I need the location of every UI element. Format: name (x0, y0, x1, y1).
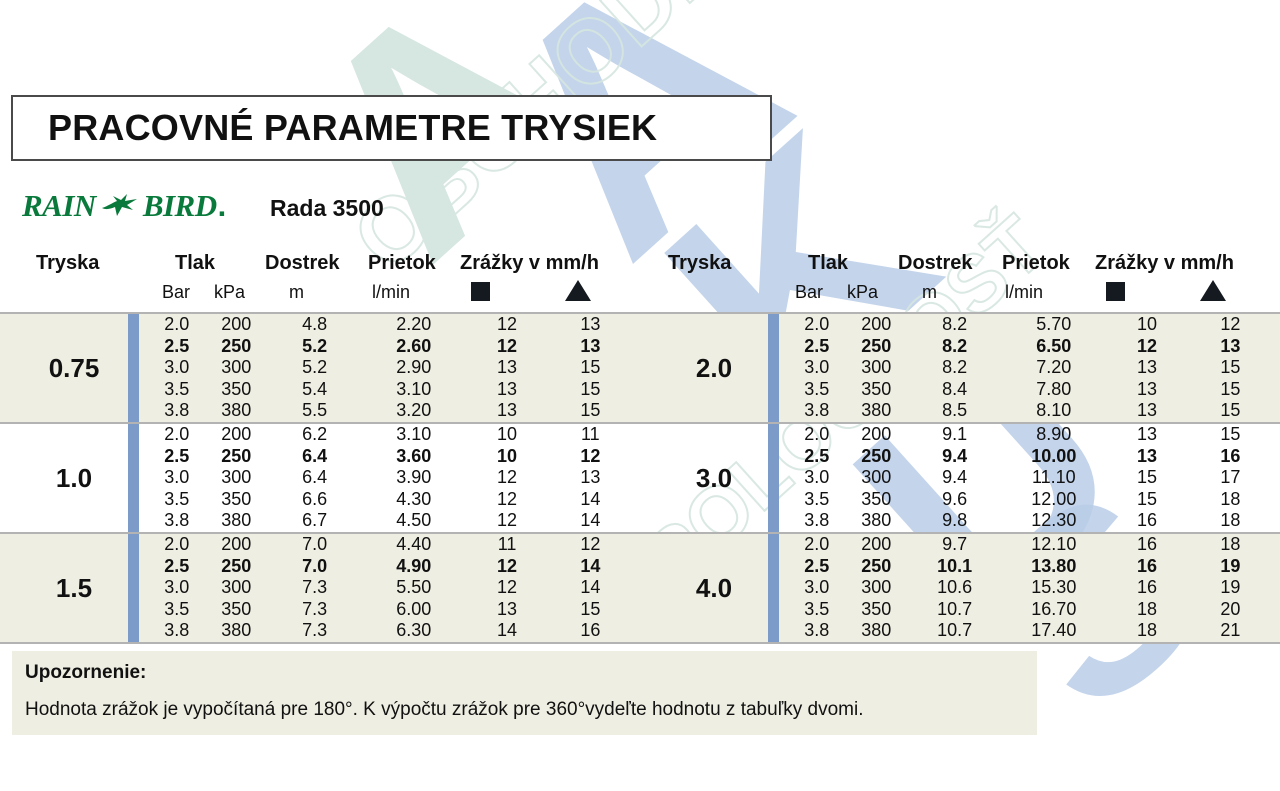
table-row: 2.52506.43.601012 (148, 446, 632, 468)
square-icon (1106, 282, 1125, 301)
nozzle-block: 3.02.02009.18.9013152.52509.410.0013163.… (640, 422, 1280, 532)
cell-flow: 7.20 (1002, 357, 1105, 379)
table-row: 3.030010.615.301619 (788, 577, 1272, 599)
cell-precip-square: 13 (465, 379, 548, 401)
cell-precip-square: 15 (1105, 489, 1188, 511)
cell-flow: 8.10 (1002, 400, 1105, 422)
cell-kpa: 350 (206, 599, 267, 621)
square-icon (471, 282, 490, 301)
cell-bar: 3.0 (788, 357, 846, 379)
cell-bar: 3.5 (148, 599, 206, 621)
page-title: PRACOVNÉ PARAMETRE TRYSIEK (13, 107, 657, 149)
cell-kpa: 300 (846, 467, 907, 489)
cell-bar: 2.5 (788, 446, 846, 468)
rain-bird-logo: RAIN BIRD . (22, 188, 226, 224)
table-row: 3.535010.716.701820 (788, 599, 1272, 621)
cell-radius: 5.5 (267, 400, 362, 422)
cell-flow: 16.70 (1002, 599, 1105, 621)
cell-kpa: 200 (846, 534, 907, 556)
unit-kpa: kPa (847, 282, 878, 303)
table-row: 3.53509.612.001518 (788, 489, 1272, 511)
cell-precip-triangle: 14 (549, 489, 632, 511)
cell-bar: 3.0 (148, 467, 206, 489)
footer-text: Hodnota zrážok je vypočítaná pre 180°. K… (25, 699, 863, 721)
nozzle-rows: 2.02006.23.1010112.52506.43.6010123.0300… (148, 424, 632, 532)
unit-m: m (289, 282, 304, 303)
cell-kpa: 350 (846, 489, 907, 511)
cell-bar: 3.8 (788, 400, 846, 422)
nozzle-size-label: 0.75 (0, 314, 148, 422)
unit-bar: Bar (162, 282, 190, 303)
cell-kpa: 200 (846, 424, 907, 446)
cell-kpa: 200 (206, 534, 267, 556)
cell-precip-triangle: 15 (549, 379, 632, 401)
cell-precip-triangle: 19 (1189, 577, 1272, 599)
cell-flow: 4.40 (362, 534, 465, 556)
cell-flow: 8.90 (1002, 424, 1105, 446)
cell-radius: 9.4 (907, 467, 1002, 489)
cell-radius: 8.2 (907, 357, 1002, 379)
cell-radius: 6.6 (267, 489, 362, 511)
cell-radius: 5.4 (267, 379, 362, 401)
table-row: 3.83805.53.201315 (148, 400, 632, 422)
cell-kpa: 200 (206, 424, 267, 446)
nozzle-block: 4.02.02009.712.1016182.525010.113.801619… (640, 532, 1280, 644)
cell-bar: 3.5 (148, 489, 206, 511)
cell-flow: 11.10 (1002, 467, 1105, 489)
cell-kpa: 250 (206, 446, 267, 468)
table-left: Tryska Tlak Dostrek Prietok Zrážky v mm/… (0, 246, 640, 644)
cell-kpa: 380 (846, 620, 907, 642)
cell-precip-square: 12 (465, 336, 548, 358)
cell-bar: 3.8 (148, 510, 206, 532)
cell-precip-triangle: 12 (549, 534, 632, 556)
cell-kpa: 350 (846, 599, 907, 621)
table-right-body: 2.02.02008.25.7010122.52508.26.5012133.0… (640, 312, 1280, 644)
nozzle-rows: 2.02007.04.4011122.52507.04.9012143.0300… (148, 534, 632, 642)
cell-flow: 4.50 (362, 510, 465, 532)
cell-flow: 3.20 (362, 400, 465, 422)
cell-kpa: 380 (206, 620, 267, 642)
cell-precip-square: 10 (465, 446, 548, 468)
cell-radius: 4.8 (267, 314, 362, 336)
cell-kpa: 300 (206, 357, 267, 379)
cell-radius: 6.7 (267, 510, 362, 532)
cell-radius: 8.4 (907, 379, 1002, 401)
cell-flow: 5.50 (362, 577, 465, 599)
cell-precip-triangle: 15 (549, 599, 632, 621)
cell-precip-triangle: 18 (1189, 489, 1272, 511)
header-precip: Zrážky v mm/h (1095, 252, 1234, 275)
nozzle-size-label: 2.0 (640, 314, 788, 422)
cell-precip-triangle: 15 (549, 400, 632, 422)
cell-flow: 5.70 (1002, 314, 1105, 336)
cell-kpa: 380 (206, 400, 267, 422)
cell-kpa: 250 (846, 336, 907, 358)
triangle-icon (565, 280, 591, 301)
nozzle-size-label: 4.0 (640, 534, 788, 642)
cell-flow: 3.10 (362, 424, 465, 446)
cell-precip-triangle: 16 (1189, 446, 1272, 468)
cell-bar: 2.0 (148, 534, 206, 556)
cell-flow: 10.00 (1002, 446, 1105, 468)
unit-lmin: l/min (372, 282, 410, 303)
cell-precip-triangle: 12 (549, 446, 632, 468)
column-separator-bar (768, 534, 779, 642)
cell-bar: 3.0 (148, 357, 206, 379)
cell-precip-square: 12 (465, 467, 548, 489)
cell-flow: 4.30 (362, 489, 465, 511)
nozzle-block: 0.752.02004.82.2012132.52505.22.6012133.… (0, 312, 640, 422)
header-nozzle: Tryska (36, 252, 99, 275)
cell-radius: 10.7 (907, 599, 1002, 621)
cell-flow: 6.50 (1002, 336, 1105, 358)
cell-radius: 10.1 (907, 556, 1002, 578)
cell-bar: 2.5 (148, 336, 206, 358)
nozzle-block: 1.02.02006.23.1010112.52506.43.6010123.0… (0, 422, 640, 532)
cell-precip-triangle: 18 (1189, 534, 1272, 556)
table-row: 3.53505.43.101315 (148, 379, 632, 401)
cell-precip-square: 12 (465, 314, 548, 336)
cell-precip-square: 13 (1105, 446, 1188, 468)
series-label: Rada 3500 (270, 195, 384, 222)
cell-precip-triangle: 13 (549, 336, 632, 358)
cell-bar: 3.8 (148, 400, 206, 422)
cell-precip-triangle: 15 (1189, 357, 1272, 379)
table-row: 2.52507.04.901214 (148, 556, 632, 578)
cell-precip-triangle: 16 (549, 620, 632, 642)
table-row: 3.83806.74.501214 (148, 510, 632, 532)
header-radius: Dostrek (898, 252, 972, 275)
cell-precip-square: 14 (465, 620, 548, 642)
cell-precip-square: 12 (465, 577, 548, 599)
cell-kpa: 350 (846, 379, 907, 401)
column-separator-bar (768, 314, 779, 422)
table-row: 2.52508.26.501213 (788, 336, 1272, 358)
table-row: 3.03009.411.101517 (788, 467, 1272, 489)
logo-word-rain: RAIN (22, 188, 96, 224)
cell-radius: 7.0 (267, 556, 362, 578)
cell-radius: 9.6 (907, 489, 1002, 511)
cell-radius: 7.3 (267, 599, 362, 621)
cell-bar: 2.0 (788, 314, 846, 336)
cell-radius: 6.4 (267, 467, 362, 489)
table-left-body: 0.752.02004.82.2012132.52505.22.6012133.… (0, 312, 640, 644)
cell-flow: 12.30 (1002, 510, 1105, 532)
cell-kpa: 380 (846, 510, 907, 532)
cell-bar: 3.0 (148, 577, 206, 599)
nozzle-rows: 2.02008.25.7010122.52508.26.5012133.0300… (788, 314, 1272, 422)
header-pressure: Tlak (808, 252, 848, 275)
table-row: 2.02009.712.101618 (788, 534, 1272, 556)
cell-radius: 5.2 (267, 336, 362, 358)
cell-kpa: 350 (206, 379, 267, 401)
header-precip: Zrážky v mm/h (460, 252, 599, 275)
cell-bar: 3.0 (788, 577, 846, 599)
cell-precip-triangle: 12 (1189, 314, 1272, 336)
table-row: 2.02007.04.401112 (148, 534, 632, 556)
bird-icon (100, 192, 140, 220)
cell-precip-triangle: 15 (1189, 379, 1272, 401)
cell-precip-square: 12 (465, 510, 548, 532)
cell-precip-square: 11 (465, 534, 548, 556)
unit-lmin: l/min (1005, 282, 1043, 303)
cell-precip-square: 13 (465, 599, 548, 621)
cell-precip-square: 16 (1105, 534, 1188, 556)
header-nozzle: Tryska (668, 252, 731, 275)
cell-bar: 2.0 (788, 534, 846, 556)
cell-precip-triangle: 13 (549, 314, 632, 336)
table-row: 3.53508.47.801315 (788, 379, 1272, 401)
cell-radius: 9.1 (907, 424, 1002, 446)
cell-kpa: 300 (206, 577, 267, 599)
cell-precip-triangle: 14 (549, 577, 632, 599)
cell-radius: 8.5 (907, 400, 1002, 422)
cell-kpa: 200 (206, 314, 267, 336)
cell-flow: 2.20 (362, 314, 465, 336)
header-flow: Prietok (1002, 252, 1070, 275)
cell-bar: 3.8 (148, 620, 206, 642)
nozzle-rows: 2.02004.82.2012132.52505.22.6012133.0300… (148, 314, 632, 422)
cell-kpa: 300 (846, 357, 907, 379)
table-row: 2.02008.25.701012 (788, 314, 1272, 336)
cell-precip-triangle: 19 (1189, 556, 1272, 578)
logo-period: . (218, 188, 227, 224)
cell-precip-square: 16 (1105, 577, 1188, 599)
table-row: 3.83808.58.101315 (788, 400, 1272, 422)
cell-flow: 2.90 (362, 357, 465, 379)
cell-flow: 6.00 (362, 599, 465, 621)
cell-precip-triangle: 20 (1189, 599, 1272, 621)
cell-kpa: 350 (206, 489, 267, 511)
nozzle-size-label: 1.5 (0, 534, 148, 642)
nozzle-block: 2.02.02008.25.7010122.52508.26.5012133.0… (640, 312, 1280, 422)
cell-bar: 2.5 (788, 336, 846, 358)
brand-row: RAIN BIRD . Rada 3500 (12, 188, 792, 234)
cell-kpa: 200 (846, 314, 907, 336)
cell-radius: 9.4 (907, 446, 1002, 468)
cell-precip-square: 18 (1105, 599, 1188, 621)
header-pressure: Tlak (175, 252, 215, 275)
cell-radius: 8.2 (907, 314, 1002, 336)
cell-precip-triangle: 15 (549, 357, 632, 379)
cell-radius: 8.2 (907, 336, 1002, 358)
cell-precip-triangle: 15 (1189, 400, 1272, 422)
cell-flow: 4.90 (362, 556, 465, 578)
table-row: 3.03006.43.901213 (148, 467, 632, 489)
cell-flow: 2.60 (362, 336, 465, 358)
table-row: 2.02009.18.901315 (788, 424, 1272, 446)
cell-flow: 12.00 (1002, 489, 1105, 511)
cell-bar: 3.5 (788, 379, 846, 401)
cell-radius: 7.0 (267, 534, 362, 556)
triangle-icon (1200, 280, 1226, 301)
cell-radius: 10.7 (907, 620, 1002, 642)
cell-precip-triangle: 11 (549, 424, 632, 446)
table-row: 3.03008.27.201315 (788, 357, 1272, 379)
table-row: 2.02004.82.201213 (148, 314, 632, 336)
cell-precip-square: 18 (1105, 620, 1188, 642)
cell-precip-triangle: 15 (1189, 424, 1272, 446)
unit-kpa: kPa (214, 282, 245, 303)
cell-flow: 3.10 (362, 379, 465, 401)
cell-flow: 3.90 (362, 467, 465, 489)
table-right-header: Tryska Tlak Dostrek Prietok Zrážky v mm/… (640, 246, 1280, 312)
cell-flow: 6.30 (362, 620, 465, 642)
cell-precip-square: 13 (1105, 379, 1188, 401)
cell-precip-square: 13 (1105, 424, 1188, 446)
cell-bar: 3.0 (788, 467, 846, 489)
header-flow: Prietok (368, 252, 436, 275)
cell-kpa: 300 (846, 577, 907, 599)
cell-radius: 9.8 (907, 510, 1002, 532)
table-row: 3.838010.717.401821 (788, 620, 1272, 642)
cell-precip-square: 12 (465, 556, 548, 578)
cell-radius: 7.3 (267, 577, 362, 599)
cell-bar: 3.5 (788, 489, 846, 511)
table-row: 3.53506.64.301214 (148, 489, 632, 511)
nozzle-size-label: 3.0 (640, 424, 788, 532)
cell-bar: 3.5 (788, 599, 846, 621)
cell-kpa: 250 (846, 446, 907, 468)
table-left-header: Tryska Tlak Dostrek Prietok Zrážky v mm/… (0, 246, 640, 312)
cell-precip-square: 12 (465, 489, 548, 511)
nozzle-rows: 2.02009.712.1016182.525010.113.8016193.0… (788, 534, 1272, 642)
table-row: 3.03005.22.901315 (148, 357, 632, 379)
cell-flow: 15.30 (1002, 577, 1105, 599)
table-row: 3.83807.36.301416 (148, 620, 632, 642)
table-row: 2.52509.410.001316 (788, 446, 1272, 468)
cell-bar: 2.0 (788, 424, 846, 446)
table-row: 2.52505.22.601213 (148, 336, 632, 358)
cell-kpa: 300 (206, 467, 267, 489)
table-row: 3.53507.36.001315 (148, 599, 632, 621)
cell-precip-square: 16 (1105, 510, 1188, 532)
cell-radius: 6.4 (267, 446, 362, 468)
logo-word-bird: BIRD (143, 188, 217, 224)
cell-precip-triangle: 14 (549, 510, 632, 532)
cell-precip-square: 10 (465, 424, 548, 446)
cell-precip-triangle: 13 (549, 467, 632, 489)
cell-bar: 2.0 (148, 424, 206, 446)
cell-bar: 3.8 (788, 510, 846, 532)
unit-m: m (922, 282, 937, 303)
cell-precip-triangle: 21 (1189, 620, 1272, 642)
cell-radius: 10.6 (907, 577, 1002, 599)
page-title-box: PRACOVNÉ PARAMETRE TRYSIEK (11, 95, 772, 161)
cell-precip-square: 13 (1105, 357, 1188, 379)
cell-precip-square: 13 (465, 400, 548, 422)
nozzle-block: 1.52.02007.04.4011122.52507.04.9012143.0… (0, 532, 640, 644)
cell-bar: 2.5 (148, 446, 206, 468)
cell-radius: 5.2 (267, 357, 362, 379)
cell-precip-triangle: 14 (549, 556, 632, 578)
cell-kpa: 380 (846, 400, 907, 422)
cell-precip-square: 13 (465, 357, 548, 379)
column-separator-bar (128, 424, 139, 532)
cell-kpa: 250 (206, 556, 267, 578)
cell-precip-square: 15 (1105, 467, 1188, 489)
cell-bar: 2.5 (788, 556, 846, 578)
column-separator-bar (768, 424, 779, 532)
cell-bar: 2.0 (148, 314, 206, 336)
cell-flow: 17.40 (1002, 620, 1105, 642)
unit-bar: Bar (795, 282, 823, 303)
cell-precip-triangle: 13 (1189, 336, 1272, 358)
cell-radius: 6.2 (267, 424, 362, 446)
cell-radius: 7.3 (267, 620, 362, 642)
table-right: Tryska Tlak Dostrek Prietok Zrážky v mm/… (640, 246, 1280, 644)
cell-bar: 2.5 (148, 556, 206, 578)
cell-flow: 12.10 (1002, 534, 1105, 556)
cell-precip-triangle: 17 (1189, 467, 1272, 489)
cell-flow: 7.80 (1002, 379, 1105, 401)
table-row: 3.03007.35.501214 (148, 577, 632, 599)
table-row: 3.83809.812.301618 (788, 510, 1272, 532)
cell-precip-square: 12 (1105, 336, 1188, 358)
cell-precip-square: 13 (1105, 400, 1188, 422)
nozzle-rows: 2.02009.18.9013152.52509.410.0013163.030… (788, 424, 1272, 532)
cell-radius: 9.7 (907, 534, 1002, 556)
cell-precip-square: 10 (1105, 314, 1188, 336)
cell-kpa: 250 (846, 556, 907, 578)
cell-flow: 13.80 (1002, 556, 1105, 578)
cell-kpa: 250 (206, 336, 267, 358)
column-separator-bar (128, 534, 139, 642)
cell-bar: 3.5 (148, 379, 206, 401)
table-row: 2.02006.23.101011 (148, 424, 632, 446)
table-row: 2.525010.113.801619 (788, 556, 1272, 578)
cell-precip-triangle: 18 (1189, 510, 1272, 532)
column-separator-bar (128, 314, 139, 422)
footer-note-box: Upozornenie: Hodnota zrážok je vypočítan… (12, 651, 1037, 735)
cell-flow: 3.60 (362, 446, 465, 468)
cell-precip-square: 16 (1105, 556, 1188, 578)
cell-kpa: 380 (206, 510, 267, 532)
footer-label: Upozornenie: (25, 662, 146, 684)
cell-bar: 3.8 (788, 620, 846, 642)
header-radius: Dostrek (265, 252, 339, 275)
nozzle-size-label: 1.0 (0, 424, 148, 532)
